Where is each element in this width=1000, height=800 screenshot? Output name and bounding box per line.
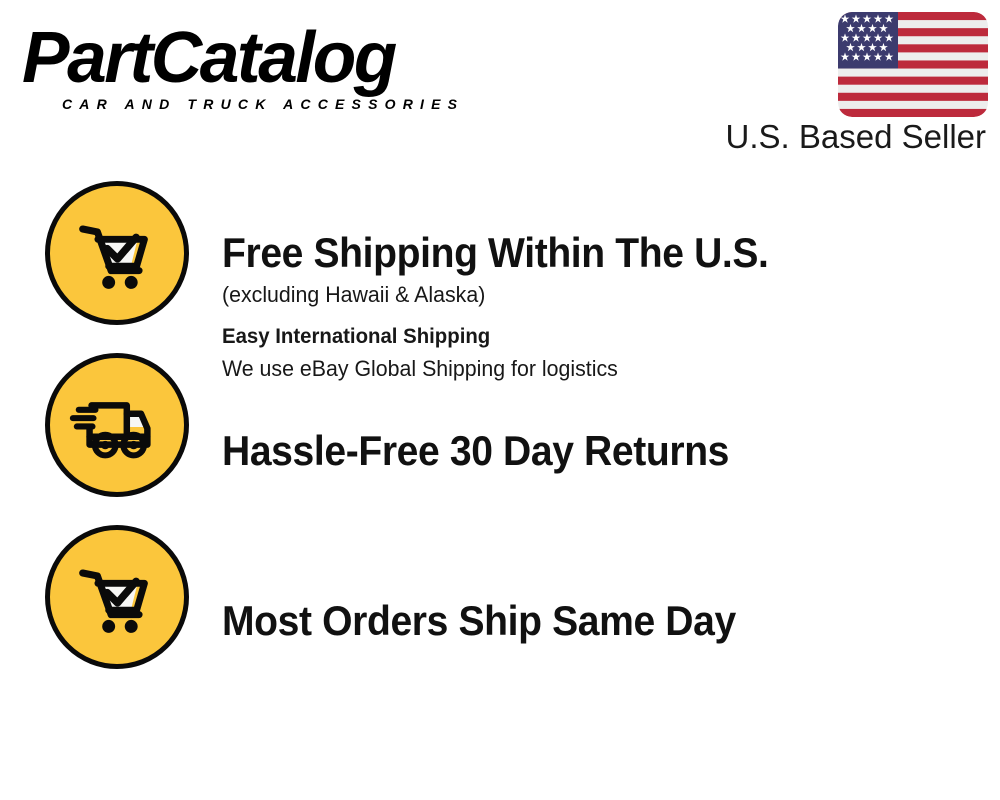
page-header: PartCatalog CAR AND TRUCK ACCESSORIES [0,0,1000,175]
benefit-row: Free Shipping Within The U.S. (excluding… [0,175,1000,347]
benefit-text-block: Hassle-Free 30 Day Returns [222,427,962,475]
benefit-subtitle-exclusions: (excluding Hawaii & Alaska) [222,280,940,310]
benefit-title: Hassle-Free 30 Day Returns [222,427,910,475]
brand-logo[interactable]: PartCatalog CAR AND TRUCK ACCESSORIES [22,20,492,112]
benefit-row: Most Orders Ship Same Day [0,519,1000,691]
benefit-title: Free Shipping Within The U.S. [222,229,910,277]
us-based-seller-label: U.S. Based Seller [726,118,986,156]
brand-wordmark: PartCatalog [22,20,395,96]
shopping-cart-check-icon [45,181,189,325]
shopping-cart-check-icon [45,525,189,669]
benefit-text-block: Most Orders Ship Same Day [222,597,962,645]
benefits-list: Free Shipping Within The U.S. (excluding… [0,175,1000,691]
benefit-row: Hassle-Free 30 Day Returns [0,347,1000,519]
delivery-truck-icon [45,353,189,497]
brand-tagline: CAR AND TRUCK ACCESSORIES [62,96,464,112]
us-flag-icon [838,12,988,117]
benefit-title: Most Orders Ship Same Day [222,597,910,645]
